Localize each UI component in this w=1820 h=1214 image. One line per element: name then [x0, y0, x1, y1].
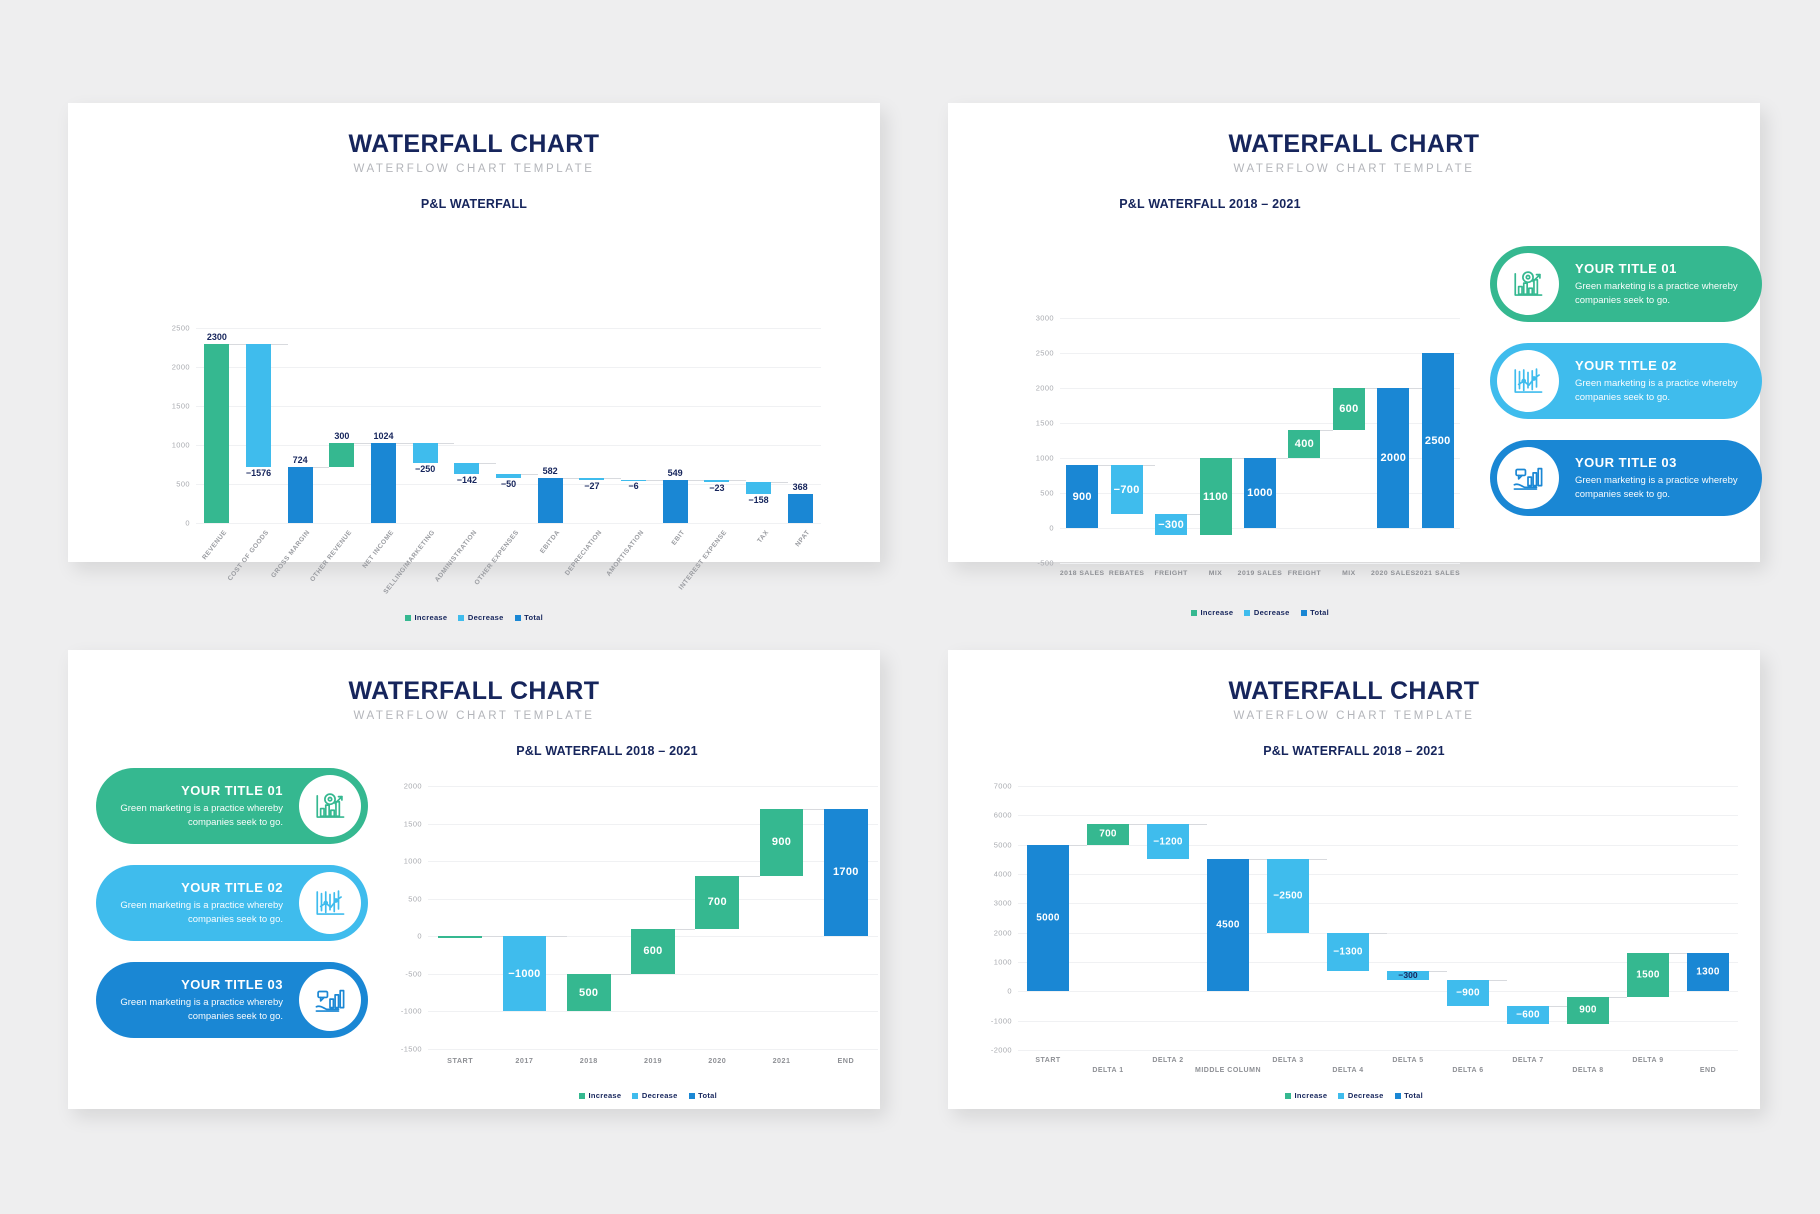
y-axis-tick-label: 1000 [172, 441, 196, 450]
gridline [1018, 845, 1738, 846]
bar-decrease[interactable] [454, 463, 479, 474]
x-axis-tick-label: AMORTISATION [605, 529, 645, 578]
bar-chart-line-icon [299, 872, 361, 934]
info-card-text: Green marketing is a practice whereby co… [1575, 280, 1746, 308]
slide-waterfall-2018-2021-cards-left[interactable]: WATERFALL CHART WATERFLOW CHART TEMPLATE… [68, 650, 880, 1109]
chart-legend-3: Increase Decrease Total [428, 1091, 868, 1100]
bar-total[interactable]: 1300 [1687, 953, 1729, 991]
legend-decrease: Decrease [458, 613, 503, 622]
x-axis-tick-label: TAX [756, 529, 770, 545]
legend-swatch-decrease [1244, 610, 1250, 616]
waterfall-connector [1276, 458, 1288, 459]
x-axis-tick-label: DELTA 5 [1392, 1057, 1423, 1064]
info-card-2[interactable]: YOUR TITLE 02 Green marketing is a pract… [1490, 343, 1762, 419]
x-axis-tick-label: GROSS MARGIN [270, 529, 311, 579]
waterfall-connector [479, 463, 496, 464]
info-card-text: Green marketing is a practice whereby co… [1575, 377, 1746, 405]
y-axis-tick-label: 500 [408, 894, 428, 903]
waterfall-chart-1: 050010001500200025002300REVENUE−1576COST… [68, 103, 880, 562]
bar-value-label: 1024 [373, 431, 393, 441]
y-axis-tick-label: 2000 [1036, 384, 1060, 393]
legend-total: Total [515, 613, 543, 622]
legend-label-decrease: Decrease [468, 613, 504, 622]
bar-value-label: −1300 [1333, 946, 1363, 957]
bar-chart-target-icon [1497, 253, 1559, 315]
bar-total[interactable]: 5000 [1027, 845, 1069, 992]
waterfall-connector [739, 876, 760, 877]
info-cards-left: YOUR TITLE 01 Green marketing is a pract… [96, 768, 368, 1059]
chart-legend-1: Increase Decrease Total [68, 613, 880, 622]
waterfall-connector [611, 974, 632, 975]
waterfall-connector [1143, 465, 1155, 466]
bar-value-label: 700 [708, 896, 727, 908]
x-axis-tick-label: FREIGHT [1154, 570, 1187, 577]
x-axis-tick-label: 2018 [580, 1056, 598, 1065]
legend-swatch-increase [1191, 610, 1197, 616]
bar-chart-target-icon [299, 775, 361, 837]
waterfall-connector [546, 936, 567, 937]
bar-value-label: 600 [1339, 403, 1358, 415]
bar-value-label: −158 [748, 495, 768, 505]
plot-area-1: 050010001500200025002300REVENUE−1576COST… [196, 328, 821, 523]
bar-increase[interactable]: 600 [1333, 388, 1365, 430]
x-axis-tick-label: 2020 SALES [1371, 570, 1416, 577]
bar-total[interactable]: 1000 [1244, 458, 1276, 528]
bar-decrease[interactable]: −1300 [1327, 933, 1369, 971]
bar-value-label: −600 [1516, 1009, 1540, 1020]
legend-decrease: Decrease [1338, 1091, 1383, 1100]
bar-value-label: 700 [1099, 829, 1117, 840]
info-card-3[interactable]: YOUR TITLE 03 Green marketing is a pract… [1490, 440, 1762, 516]
bar-decrease[interactable]: −600 [1507, 1006, 1549, 1024]
x-axis-tick-label: 2019 SALES [1238, 570, 1283, 577]
gridline [196, 445, 821, 446]
legend-swatch-decrease [1338, 1093, 1344, 1099]
x-axis-tick-label: DELTA 4 [1332, 1067, 1363, 1074]
gridline [1018, 1050, 1738, 1051]
info-card-title: YOUR TITLE 02 [112, 880, 283, 895]
gridline [196, 328, 821, 329]
x-axis-tick-label: NET INCOME [361, 529, 395, 570]
bar-decrease[interactable] [496, 474, 521, 478]
bar-increase[interactable]: 600 [631, 929, 675, 974]
bar-increase[interactable] [438, 936, 482, 938]
x-axis-tick-label: END [838, 1056, 855, 1065]
gridline [428, 861, 878, 862]
bar-value-label: −1000 [508, 968, 540, 980]
y-axis-tick-label: 1000 [404, 857, 428, 866]
bar-value-label: −1576 [246, 468, 271, 478]
y-axis-tick-label: -1500 [401, 1045, 428, 1054]
gridline [1060, 528, 1460, 529]
slide-waterfall-pl[interactable]: WATERFALL CHART WATERFLOW CHART TEMPLATE… [68, 103, 880, 562]
bar-total[interactable] [538, 478, 563, 523]
waterfall-connector [604, 478, 621, 479]
legend-label-decrease: Decrease [642, 1091, 678, 1100]
waterfall-connector [803, 809, 824, 810]
legend-swatch-decrease [458, 615, 464, 621]
info-card-body: YOUR TITLE 03 Green marketing is a pract… [1559, 455, 1762, 502]
y-axis-tick-label: -500 [1037, 559, 1060, 568]
legend-total: Total [1395, 1091, 1423, 1100]
x-axis-tick-label: REBATES [1109, 570, 1144, 577]
waterfall-connector [729, 480, 746, 481]
bar-increase[interactable]: 700 [1087, 824, 1129, 845]
info-card-1[interactable]: YOUR TITLE 01 Green marketing is a pract… [96, 768, 368, 844]
x-axis-tick-label: DELTA 3 [1272, 1057, 1303, 1064]
waterfall-connector [646, 480, 663, 481]
bar-value-label: 1100 [1203, 491, 1228, 503]
x-axis-tick-label: 2019 [644, 1056, 662, 1065]
bar-increase[interactable]: 700 [695, 876, 739, 929]
waterfall-connector [1320, 430, 1332, 431]
y-axis-tick-label: 3000 [1036, 314, 1060, 323]
gridline [1060, 563, 1460, 564]
bar-value-label: −250 [415, 464, 435, 474]
y-axis-tick-label: 1000 [994, 958, 1018, 967]
bar-increase[interactable]: 400 [1288, 430, 1320, 458]
x-axis-tick-label: FREIGHT [1288, 570, 1321, 577]
x-axis-tick-label: MIX [1209, 570, 1223, 577]
waterfall-connector [521, 474, 538, 475]
y-axis-tick-label: -500 [405, 969, 428, 978]
bar-decrease[interactable] [246, 344, 271, 467]
legend-swatch-total [1301, 610, 1307, 616]
gridline [428, 1049, 878, 1050]
info-card-title: YOUR TITLE 01 [1575, 261, 1746, 276]
legend-swatch-total [515, 615, 521, 621]
x-axis-tick-label: 2021 [773, 1056, 791, 1065]
bar-increase[interactable]: 900 [1567, 997, 1609, 1023]
legend-swatch-increase [579, 1093, 585, 1099]
bar-decrease[interactable]: −300 [1155, 514, 1187, 535]
info-card-body: YOUR TITLE 02 Green marketing is a pract… [1559, 358, 1762, 405]
x-axis-tick-label: START [447, 1056, 473, 1065]
legend-decrease: Decrease [632, 1091, 677, 1100]
bar-increase[interactable] [204, 344, 229, 523]
x-axis-tick-label: DELTA 6 [1452, 1067, 1483, 1074]
bar-value-label: 724 [293, 455, 308, 465]
y-axis-tick-label: 2500 [1036, 349, 1060, 358]
waterfall-connector [1098, 465, 1110, 466]
bar-total[interactable]: 4500 [1207, 859, 1249, 991]
gridline [1018, 786, 1738, 787]
bar-value-label: 500 [579, 987, 598, 999]
legend-label-increase: Increase [589, 1091, 622, 1100]
legend-label-decrease: Decrease [1254, 608, 1290, 617]
waterfall-connector [1187, 514, 1199, 515]
bar-decrease[interactable]: −700 [1111, 465, 1143, 514]
bar-increase[interactable]: 900 [760, 809, 804, 877]
bar-decrease[interactable]: −2500 [1267, 859, 1309, 932]
bar-value-label: 5000 [1036, 912, 1059, 923]
bar-total[interactable] [788, 494, 813, 523]
bar-value-label: −700 [1114, 484, 1140, 496]
y-axis-tick-label: -1000 [991, 1016, 1018, 1025]
x-axis-tick-label: 2020 [708, 1056, 726, 1065]
x-axis-tick-label: OTHER REVENUE [309, 529, 353, 583]
legend-label-total: Total [1404, 1091, 1423, 1100]
info-card-body: YOUR TITLE 01 Green marketing is a pract… [1559, 261, 1762, 308]
legend-increase: Increase [579, 1091, 621, 1100]
x-axis-tick-label: COST OF GOODS [226, 529, 270, 582]
bar-increase[interactable]: 500 [567, 974, 611, 1012]
info-card-1[interactable]: YOUR TITLE 01 Green marketing is a pract… [1490, 246, 1762, 322]
bar-chart-line-icon [1497, 350, 1559, 412]
bar-total[interactable] [288, 467, 313, 523]
info-card-body: YOUR TITLE 01 Green marketing is a pract… [96, 783, 299, 830]
bar-value-label: 600 [643, 945, 662, 957]
info-card-title: YOUR TITLE 03 [1575, 455, 1746, 470]
y-axis-tick-label: 7000 [994, 782, 1018, 791]
waterfall-connector [1669, 953, 1687, 954]
chart-legend-2: Increase Decrease Total [1060, 608, 1460, 617]
waterfall-connector [771, 482, 788, 483]
waterfall-connector [1489, 980, 1507, 981]
waterfall-connector [688, 480, 705, 481]
x-axis-tick-label: DELTA 9 [1632, 1057, 1663, 1064]
waterfall-connector [354, 443, 371, 444]
x-axis-tick-label: START [1035, 1057, 1060, 1064]
waterfall-chart-4: -2000-1000010002000300040005000600070005… [948, 650, 1760, 1109]
bar-value-label: −23 [709, 483, 724, 493]
waterfall-connector [1369, 933, 1387, 934]
legend-label-increase: Increase [1201, 608, 1234, 617]
gridline [428, 824, 878, 825]
slide-waterfall-2018-2021-cards-right[interactable]: WATERFALL CHART WATERFLOW CHART TEMPLATE… [948, 103, 1760, 562]
bar-value-label: 2000 [1380, 452, 1406, 464]
legend-swatch-total [689, 1093, 695, 1099]
gridline [196, 367, 821, 368]
slide-waterfall-deltas[interactable]: WATERFALL CHART WATERFLOW CHART TEMPLATE… [948, 650, 1760, 1109]
x-axis-tick-label: DELTA 7 [1512, 1057, 1543, 1064]
x-axis-tick-label: DELTA 1 [1092, 1067, 1123, 1074]
x-axis-tick-label: MIDDLE COLUMN [1195, 1067, 1261, 1074]
info-card-body: YOUR TITLE 02 Green marketing is a pract… [96, 880, 299, 927]
y-axis-tick-label: 2500 [172, 324, 196, 333]
gridline [428, 786, 878, 787]
legend-label-increase: Increase [415, 613, 448, 622]
waterfall-connector [1069, 845, 1087, 846]
bar-total[interactable]: 2500 [1422, 353, 1454, 528]
bar-value-label: −1200 [1153, 836, 1183, 847]
bar-value-label: 900 [1579, 1005, 1597, 1016]
y-axis-tick-label: -1000 [401, 1007, 428, 1016]
gridline [196, 406, 821, 407]
info-card-title: YOUR TITLE 02 [1575, 358, 1746, 373]
legend-swatch-decrease [632, 1093, 638, 1099]
info-card-title: YOUR TITLE 03 [112, 977, 283, 992]
gridline [1018, 903, 1738, 904]
bar-value-label: 2300 [207, 332, 227, 342]
legend-label-total: Total [1310, 608, 1329, 617]
y-axis-tick-label: 0 [1049, 524, 1060, 533]
bar-decrease[interactable] [704, 480, 729, 482]
bar-value-label: 4500 [1216, 920, 1239, 931]
y-axis-tick-label: 0 [185, 519, 196, 528]
bar-decrease[interactable]: −1200 [1147, 824, 1189, 859]
legend-swatch-increase [1285, 1093, 1291, 1099]
gridline [1060, 353, 1460, 354]
y-axis-tick-label: -2000 [991, 1046, 1018, 1055]
x-axis-tick-label: NPAT [794, 529, 811, 548]
bar-total[interactable] [371, 443, 396, 523]
gridline [428, 1011, 878, 1012]
waterfall-connector [1549, 1006, 1567, 1007]
y-axis-tick-label: 2000 [994, 928, 1018, 937]
legend-decrease: Decrease [1244, 608, 1289, 617]
bar-value-label: −300 [1398, 970, 1417, 980]
x-axis-tick-label: EBITDA [539, 529, 561, 555]
waterfall-connector [563, 478, 580, 479]
hand-growth-chart-icon [1497, 447, 1559, 509]
bar-total[interactable]: 1700 [824, 809, 868, 937]
bar-value-label: 300 [334, 431, 349, 441]
legend-total: Total [689, 1091, 717, 1100]
info-cards-right: YOUR TITLE 01 Green marketing is a pract… [1490, 246, 1762, 537]
legend-increase: Increase [1191, 608, 1233, 617]
info-card-3[interactable]: YOUR TITLE 03 Green marketing is a pract… [96, 962, 368, 1038]
bar-value-label: 1000 [1247, 487, 1273, 499]
y-axis-tick-label: 2000 [172, 363, 196, 372]
hand-growth-chart-icon [299, 969, 361, 1031]
gridline [1018, 815, 1738, 816]
bar-value-label: 549 [668, 468, 683, 478]
bar-total[interactable] [663, 480, 688, 523]
bar-total[interactable]: 900 [1066, 465, 1098, 528]
waterfall-connector [229, 344, 246, 345]
gridline [1018, 1021, 1738, 1022]
waterfall-connector [1365, 388, 1377, 389]
legend-label-decrease: Decrease [1348, 1091, 1384, 1100]
gridline [1060, 318, 1460, 319]
x-axis-tick-label: END [1700, 1067, 1716, 1074]
waterfall-connector [1409, 388, 1421, 389]
bar-value-label: 900 [1073, 491, 1092, 503]
y-axis-tick-label: 500 [1040, 489, 1060, 498]
plot-area-4: -2000-1000010002000300040005000600070005… [1018, 786, 1738, 1050]
x-axis-tick-label: MIX [1342, 570, 1356, 577]
chart-legend-4: Increase Decrease Total [948, 1091, 1760, 1100]
x-axis-tick-label: DEPRECIATION [564, 529, 604, 577]
y-axis-tick-label: 0 [1007, 987, 1018, 996]
legend-label-total: Total [524, 613, 543, 622]
y-axis-tick-label: 1500 [172, 402, 196, 411]
bar-decrease[interactable]: −1000 [503, 936, 547, 1011]
plot-area-3: -1500-1000-5000500100015002000START−1000… [428, 786, 878, 1049]
legend-total: Total [1301, 608, 1329, 617]
legend-swatch-total [1395, 1093, 1401, 1099]
y-axis-tick-label: 4000 [994, 870, 1018, 879]
bar-value-label: 900 [772, 836, 791, 848]
slide-deck-canvas: WATERFALL CHART WATERFLOW CHART TEMPLATE… [0, 0, 1820, 1214]
legend-swatch-increase [405, 615, 411, 621]
info-card-text: Green marketing is a practice whereby co… [112, 802, 283, 830]
waterfall-connector [675, 929, 696, 930]
waterfall-connector [1609, 997, 1627, 998]
x-axis-tick-label: DELTA 8 [1572, 1067, 1603, 1074]
y-axis-tick-label: 1000 [1036, 454, 1060, 463]
info-card-title: YOUR TITLE 01 [112, 783, 283, 798]
gridline [428, 899, 878, 900]
bar-value-label: −27 [584, 481, 599, 491]
y-axis-tick-label: 1500 [1036, 419, 1060, 428]
bar-value-label: 1300 [1696, 967, 1719, 978]
info-card-text: Green marketing is a practice whereby co… [112, 996, 283, 1024]
waterfall-connector [438, 443, 455, 444]
y-axis-tick-label: 6000 [994, 811, 1018, 820]
bar-increase[interactable]: 1500 [1627, 953, 1669, 997]
x-axis-tick-label: 2017 [515, 1056, 533, 1065]
x-axis-tick-label: DELTA 2 [1152, 1057, 1183, 1064]
legend-increase: Increase [405, 613, 447, 622]
waterfall-connector [1129, 824, 1147, 825]
bar-total[interactable]: 2000 [1377, 388, 1409, 528]
waterfall-connector [271, 344, 288, 345]
bar-value-label: −142 [457, 475, 477, 485]
y-axis-tick-label: 2000 [404, 782, 428, 791]
bar-value-label: −900 [1456, 987, 1480, 998]
legend-label-increase: Increase [1295, 1091, 1328, 1100]
info-card-2[interactable]: YOUR TITLE 02 Green marketing is a pract… [96, 865, 368, 941]
waterfall-connector [313, 467, 330, 468]
bar-value-label: −2500 [1273, 890, 1303, 901]
y-axis-tick-label: 3000 [994, 899, 1018, 908]
info-card-text: Green marketing is a practice whereby co… [1575, 474, 1746, 502]
y-axis-tick-label: 5000 [994, 840, 1018, 849]
waterfall-connector [1189, 824, 1207, 825]
bar-increase[interactable]: 1100 [1200, 458, 1232, 535]
bar-value-label: 400 [1295, 438, 1314, 450]
y-axis-tick-label: 1500 [404, 819, 428, 828]
bar-value-label: 1500 [1636, 970, 1659, 981]
x-axis-tick-label: EBIT [671, 529, 687, 547]
y-axis-tick-label: 500 [176, 480, 196, 489]
waterfall-connector [1232, 458, 1244, 459]
x-axis-tick-label: 2018 SALES [1060, 570, 1105, 577]
waterfall-connector [1429, 971, 1447, 972]
gridline [1018, 874, 1738, 875]
bar-increase[interactable] [329, 443, 354, 466]
x-axis-tick-label: REVENUE [201, 529, 228, 561]
plot-area-2: -5000500100015002000250030009002018 SALE… [1060, 318, 1460, 563]
info-card-text: Green marketing is a practice whereby co… [112, 899, 283, 927]
gridline [428, 974, 878, 975]
waterfall-connector [1249, 859, 1267, 860]
bar-value-label: 2500 [1425, 435, 1451, 447]
x-axis-tick-label: OTHER EXPENSES [473, 529, 520, 586]
x-axis-tick-label: ADMINISTRATION [434, 529, 479, 583]
legend-increase: Increase [1285, 1091, 1327, 1100]
y-axis-tick-label: 0 [417, 932, 428, 941]
bar-decrease[interactable] [746, 482, 771, 494]
bar-decrease[interactable] [413, 443, 438, 463]
bar-decrease[interactable]: −900 [1447, 980, 1489, 1006]
waterfall-connector [396, 443, 413, 444]
info-card-body: YOUR TITLE 03 Green marketing is a pract… [96, 977, 299, 1024]
x-axis-tick-label: INTEREST EXPENSE [678, 529, 729, 591]
bar-value-label: −50 [501, 479, 516, 489]
bar-value-label: 1700 [833, 866, 859, 878]
x-axis-tick-label: 2021 SALES [1415, 570, 1460, 577]
bar-value-label: −300 [1158, 519, 1184, 531]
bar-value-label: 582 [543, 466, 558, 476]
bar-value-label: −6 [628, 481, 638, 491]
waterfall-connector [1309, 859, 1327, 860]
legend-label-total: Total [698, 1091, 717, 1100]
bar-decrease[interactable] [579, 478, 604, 480]
gridline [196, 523, 821, 524]
